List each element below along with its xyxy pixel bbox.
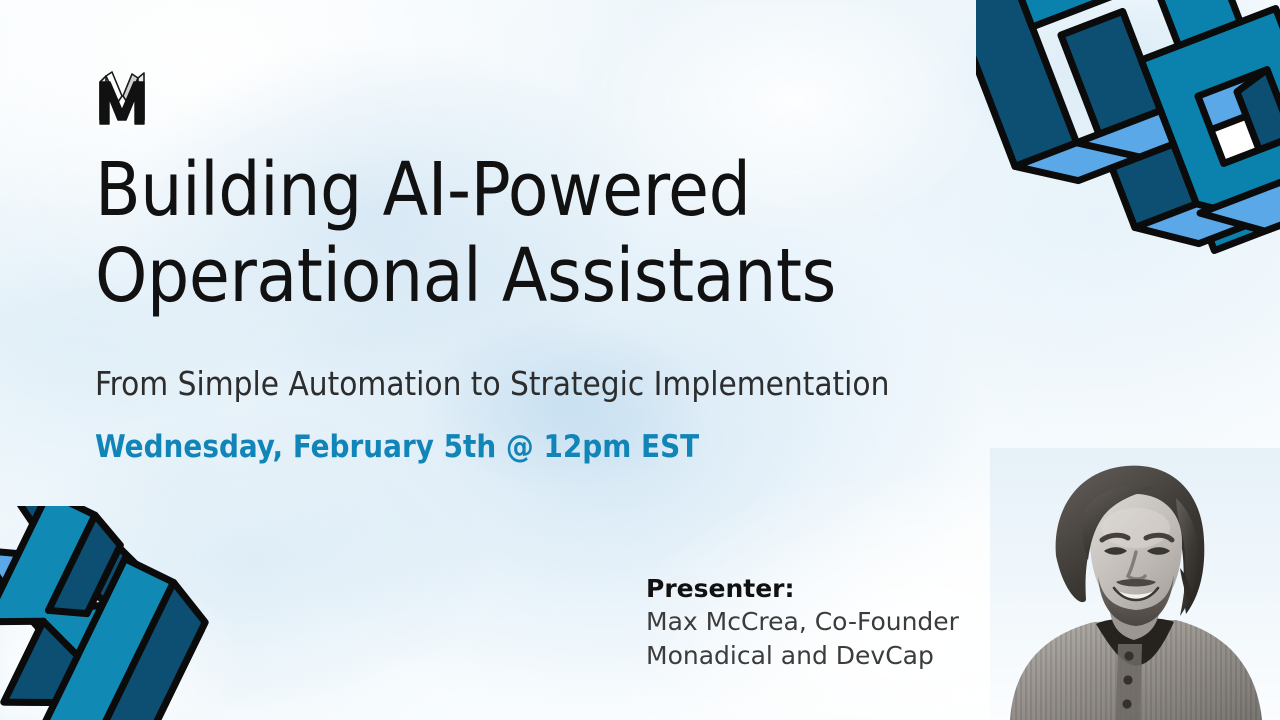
page-title: Building AI-Powered Operational Assistan… xyxy=(95,148,975,320)
presenter-name-role: Max McCrea, Co-Founder xyxy=(646,605,1006,639)
event-datetime: Wednesday, February 5th @ 12pm EST xyxy=(95,429,975,466)
webinar-title-slide: Building AI-Powered Operational Assistan… xyxy=(0,0,1280,720)
monadical-m-logo-icon xyxy=(94,66,156,128)
decor-isometric-m-logo-bottom-left xyxy=(0,506,212,720)
decor-isometric-m-logo-top-right xyxy=(976,0,1280,328)
presenter-label: Presenter: xyxy=(646,572,1006,605)
slide-text-content: Building AI-Powered Operational Assistan… xyxy=(95,148,975,466)
presenter-block: Presenter: Max McCrea, Co-Founder Monadi… xyxy=(646,572,1006,673)
presenter-companies: Monadical and DevCap xyxy=(646,639,1006,673)
slide-subtitle: From Simple Automation to Strategic Impl… xyxy=(95,364,975,404)
presenter-headshot-photo xyxy=(990,448,1280,720)
